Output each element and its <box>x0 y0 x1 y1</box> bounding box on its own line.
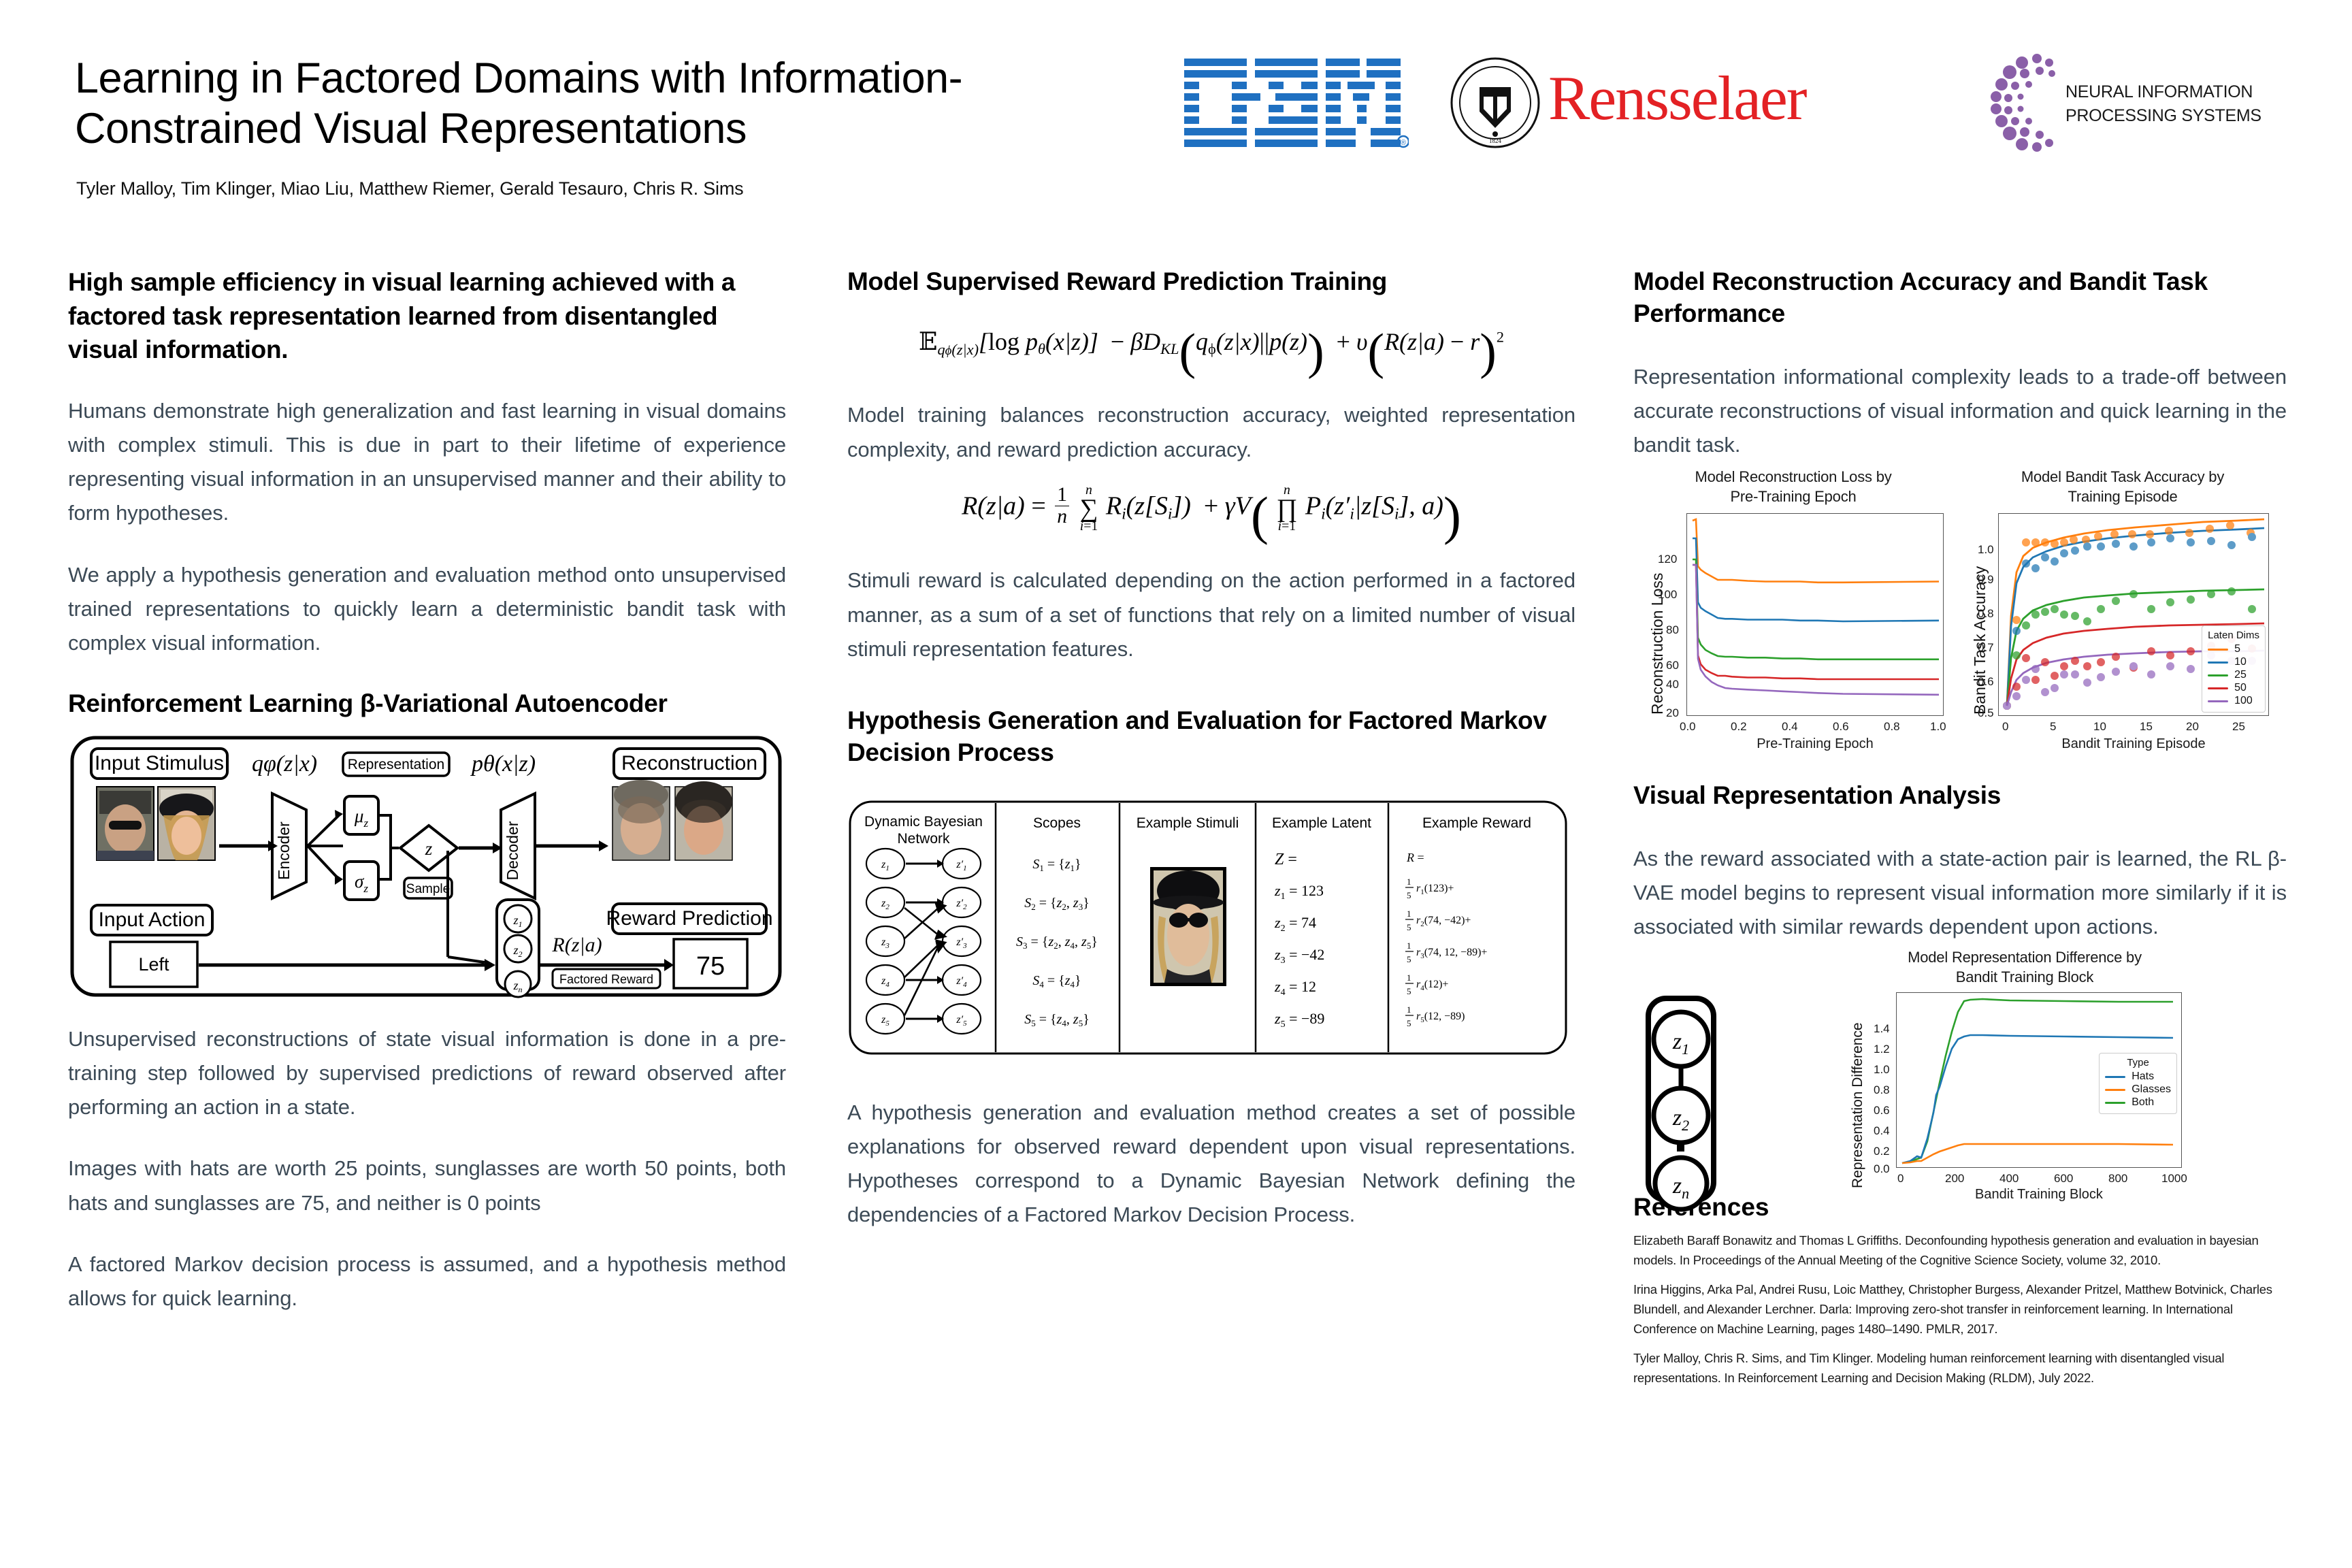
chart2-xtick-20: 20 <box>2186 720 2199 734</box>
left-lead-heading: High sample efficiency in visual learnin… <box>68 265 786 367</box>
poster-header: Learning in Factored Domains with Inform… <box>0 0 2352 225</box>
left-paragraph-4: Images with hats are worth 25 points, su… <box>68 1151 786 1220</box>
legend-swatch-100 <box>2208 700 2228 702</box>
legend-label-100: 100 <box>2234 695 2253 707</box>
mid-paragraph-1: Model training balances reconstruction a… <box>847 398 1575 466</box>
svg-text:5: 5 <box>1407 954 1411 964</box>
poster-root: Learning in Factored Domains with Inform… <box>0 0 2352 1568</box>
dbn-col-header-4: Example Reward <box>1422 815 1531 831</box>
ibm-logo: ® <box>1184 57 1409 148</box>
chart3-legend-title: Type <box>2105 1057 2171 1068</box>
chart-reconstruction-loss: Model Reconstruction Loss byPre-Training… <box>1633 468 1953 762</box>
chart-representation-difference: Model Representation Difference byBandit… <box>1763 948 2287 1222</box>
svg-text:1: 1 <box>1407 909 1411 919</box>
ibm-registered-mark: ® <box>1401 139 1406 147</box>
page-title: Learning in Factored Domains with Inform… <box>75 53 1164 154</box>
svg-text:5: 5 <box>1407 922 1411 932</box>
vae-encoder-label: Encoder <box>275 821 293 879</box>
legend-label-both: Both <box>2131 1096 2154 1109</box>
chart3-title: Model Representation Difference byBandit… <box>1763 948 2287 986</box>
chart3-legend: Type Hats Glasses Both <box>2099 1053 2177 1114</box>
chart1-ytick-20: 20 <box>1666 706 1679 720</box>
vae-reward-prediction-label: Reward Prediction <box>606 907 772 930</box>
right-heading-2: Visual Representation Analysis <box>1633 779 2287 811</box>
svg-text:1: 1 <box>1407 1004 1411 1015</box>
chart3-legend-item-hats: Hats <box>2105 1071 2171 1083</box>
chart2-xtick-25: 25 <box>2232 720 2245 734</box>
dbn-col-header-3: Example Latent <box>1272 815 1371 831</box>
svg-text:R =: R = <box>1406 851 1424 864</box>
svg-text:z2 = 74: z2 = 74 <box>1274 914 1316 934</box>
vae-action-value: Left <box>138 954 169 975</box>
chart1-xtick-06: 0.6 <box>1833 720 1849 734</box>
chart2-xtick-5: 5 <box>2050 720 2056 734</box>
chart3-ytick-04: 0.4 <box>1874 1124 1890 1138</box>
legend-swatch-hats <box>2105 1076 2125 1078</box>
chart2-ytick-06: 0.6 <box>1978 675 1994 689</box>
vae-representation-label: Representation <box>348 757 444 772</box>
chart2-legend-item-5: 5 <box>2208 643 2259 656</box>
right-paragraph-1: Representation informational complexity … <box>1633 360 2287 463</box>
equation-elbo: 𝔼qϕ(z|x)[log pθ(x|z)] − βDKL(qϕ(z|x)||p(… <box>847 327 1575 371</box>
logo-strip: ® 1824 Rensselaer <box>1177 41 2307 163</box>
right-paragraph-2: As the reward associated with a state-ac… <box>1633 842 2287 945</box>
left-column: High sample efficiency in visual learnin… <box>68 265 786 1316</box>
vae-input-stimulus-label: Input Stimulus <box>95 752 224 774</box>
chart3-ytick-10: 1.0 <box>1874 1063 1890 1077</box>
chart1-xtick-04: 0.4 <box>1782 720 1798 734</box>
legend-label-glasses: Glasses <box>2131 1083 2171 1096</box>
left-paragraph-1: Humans demonstrate high generalization a… <box>68 394 786 531</box>
author-list: Tyler Malloy, Tim Klinger, Miao Liu, Mat… <box>76 178 1199 199</box>
chart3-legend-item-both: Both <box>2105 1096 2171 1109</box>
legend-swatch-25 <box>2208 674 2228 676</box>
vae-reconstruction-image-2 <box>675 781 732 860</box>
left-paragraph-2: We apply a hypothesis generation and eva… <box>68 558 786 661</box>
vae-decoder-distribution-label: pθ(x|z) <box>470 751 536 777</box>
vae-reward-value: 75 <box>696 952 725 981</box>
vae-input-image-1 <box>97 787 154 860</box>
reference-item-3: Tyler Malloy, Chris R. Sims, and Tim Kli… <box>1633 1349 2287 1388</box>
chart3-ytick-08: 0.8 <box>1874 1083 1890 1097</box>
vae-reconstruction-label: Reconstruction <box>621 752 757 774</box>
reference-item-1: Elizabeth Baraff Bonawitz and Thomas L G… <box>1633 1231 2287 1271</box>
latent-node-stack: z1 z2 zn <box>1633 989 1735 1213</box>
left-paragraph-3: Unsupervised reconstructions of state vi… <box>68 1022 786 1125</box>
chart2-ytick-05: 0.5 <box>1978 706 1994 720</box>
svg-text:5: 5 <box>1407 1018 1411 1028</box>
svg-text:1: 1 <box>1407 973 1411 983</box>
chart3-xtick-400: 400 <box>1999 1172 2019 1186</box>
chart2-ytick-08: 0.8 <box>1978 607 1994 621</box>
chart1-ytick-60: 60 <box>1666 659 1679 672</box>
references-section: References Elizabeth Baraff Bonawitz and… <box>1633 1193 2287 1388</box>
neurips-wordmark: NEURAL INFORMATION PROCESSING SYSTEMS <box>2065 80 2261 127</box>
chart1-ytick-100: 100 <box>1658 588 1677 602</box>
vae-decoder-label: Decoder <box>504 821 521 880</box>
dbn-table: Dynamic BayesianNetwork Scopes Example S… <box>847 799 1569 1058</box>
chart1-ytick-40: 40 <box>1666 678 1679 691</box>
chart3-ytick-02: 0.2 <box>1874 1145 1890 1158</box>
mid-paragraph-3: A hypothesis generation and evaluation m… <box>847 1096 1575 1232</box>
chart2-ytick-07: 0.7 <box>1978 641 1994 655</box>
legend-label-5: 5 <box>2234 643 2240 655</box>
representation-analysis-row: z1 z2 zn Model Representation Difference… <box>1633 948 2287 1220</box>
legend-swatch-both <box>2105 1102 2125 1104</box>
chart3-ytick-00: 0.0 <box>1874 1162 1890 1176</box>
reference-item-2: Irina Higgins, Arka Pal, Andrei Rusu, Lo… <box>1633 1280 2287 1339</box>
rensselaer-wordmark: Rensselaer <box>1548 67 1806 129</box>
chart2-legend-item-100: 100 <box>2208 695 2259 708</box>
right-column: Model Reconstruction Accuracy and Bandit… <box>1633 265 2287 1397</box>
vae-factored-reward-label: Factored Reward <box>559 973 653 986</box>
chart1-xtick-10: 1.0 <box>1930 720 1946 734</box>
chart3-xtick-200: 200 <box>1945 1172 1964 1186</box>
svg-text:z4 = 12: z4 = 12 <box>1274 978 1316 998</box>
legend-swatch-5 <box>2208 649 2228 651</box>
dbn-col-header-2: Example Stimuli <box>1137 815 1239 831</box>
vae-reconstruction-image-1 <box>612 780 670 860</box>
chart1-xtick-08: 0.8 <box>1884 720 1900 734</box>
neurips-line-2: PROCESSING SYSTEMS <box>2065 104 2261 128</box>
chart2-xtick-10: 10 <box>2093 720 2106 734</box>
chart2-xlabel: Bandit Training Episode <box>1998 736 2269 752</box>
mid-heading-1: Model Supervised Reward Prediction Train… <box>847 265 1575 297</box>
charts-row: Model Reconstruction Loss byPre-Training… <box>1633 468 2287 767</box>
chart3-xtick-600: 600 <box>2054 1172 2073 1186</box>
svg-text:5: 5 <box>1407 986 1411 996</box>
chart1-ytick-80: 80 <box>1666 623 1679 637</box>
legend-label-hats: Hats <box>2131 1071 2154 1083</box>
left-paragraph-5: A factored Markov decision process is as… <box>68 1247 786 1316</box>
chart3-ytick-12: 1.2 <box>1874 1043 1890 1056</box>
dbn-example-stimuli-image <box>1150 867 1226 986</box>
vae-input-action-label: Input Action <box>99 909 206 931</box>
chart1-xtick-0: 0.0 <box>1680 720 1696 734</box>
neurips-logo: NEURAL INFORMATION PROCESSING SYSTEMS <box>1984 48 2304 157</box>
legend-label-50: 50 <box>2234 682 2247 694</box>
vae-reward-function-label: R(z|a) <box>551 934 602 956</box>
svg-text:5: 5 <box>1407 890 1411 900</box>
dbn-col-header-1: Scopes <box>1033 815 1081 831</box>
chart3-xtick-0: 0 <box>1897 1172 1904 1186</box>
chart2-title: Model Bandit Task Accuracy byTraining Ep… <box>1959 468 2287 506</box>
mid-paragraph-2: Stimuli reward is calculated depending o… <box>847 563 1575 666</box>
vae-sample-label: Sample <box>406 882 450 896</box>
chart2-ytick-09: 0.9 <box>1978 573 1994 587</box>
chart2-ytick-10: 1.0 <box>1978 543 1994 557</box>
chart1-title: Model Reconstruction Loss byPre-Training… <box>1633 468 1953 506</box>
rpi-seal-logo: 1824 <box>1450 57 1541 148</box>
chart3-ytick-14: 1.4 <box>1874 1022 1890 1036</box>
legend-swatch-50 <box>2208 687 2228 689</box>
chart3-legend-item-glasses: Glasses <box>2105 1083 2171 1096</box>
chart2-legend-item-10: 10 <box>2208 656 2259 669</box>
svg-text:1: 1 <box>1407 941 1411 951</box>
chart2-legend-item-50: 50 <box>2208 682 2259 695</box>
mid-heading-2: Hypothesis Generation and Evaluation for… <box>847 704 1575 769</box>
legend-swatch-glasses <box>2105 1089 2125 1091</box>
chart3-xtick-800: 800 <box>2108 1172 2127 1186</box>
rpi-seal-year: 1824 <box>1489 137 1502 144</box>
chart2-legend-item-25: 25 <box>2208 669 2259 682</box>
vae-encoder-distribution-label: qφ(z|x) <box>252 751 317 777</box>
chart2-legend: Laten Dims 5 10 25 <box>2202 625 2266 713</box>
vae-latent-z-label: z <box>425 838 433 859</box>
rl-bvae-diagram: Input Stimulus qφ(z|x) Representation pθ… <box>68 734 786 1006</box>
chart2-xtick-0: 0 <box>2002 720 2008 734</box>
chart2-xtick-15: 15 <box>2140 720 2153 734</box>
middle-column: Model Supervised Reward Prediction Train… <box>847 265 1575 1232</box>
svg-text:Z =: Z = <box>1275 851 1297 868</box>
chart2-legend-title: Laten Dims <box>2208 630 2259 641</box>
legend-label-10: 10 <box>2234 656 2247 668</box>
equation-factored-reward: R(z|a) = 1n n∑i=1 Ri(z[Si]) + γV( n∏i=1 … <box>847 483 1575 536</box>
vae-section-heading: Reinforcement Learning β-Variational Aut… <box>68 687 786 719</box>
chart3-ylabel: Representation Difference <box>1850 1022 1866 1188</box>
chart2-ylabel: Bandit Task Accuracy <box>1971 566 1989 715</box>
legend-swatch-10 <box>2208 661 2228 664</box>
chart3-xlabel: Bandit Training Block <box>1896 1187 2182 1203</box>
chart1-ytick-120: 120 <box>1658 553 1677 566</box>
right-heading-1: Model Reconstruction Accuracy and Bandit… <box>1633 265 2287 330</box>
chart-bandit-accuracy: Model Bandit Task Accuracy byTraining Ep… <box>1959 468 2287 762</box>
neurips-line-1: NEURAL INFORMATION <box>2065 80 2261 104</box>
legend-label-25: 25 <box>2234 669 2247 681</box>
chart1-xtick-02: 0.2 <box>1731 720 1747 734</box>
chart3-ytick-06: 0.6 <box>1874 1104 1890 1117</box>
svg-text:1: 1 <box>1407 877 1411 887</box>
chart1-xlabel: Pre-Training Epoch <box>1686 736 1944 752</box>
chart3-xtick-1000: 1000 <box>2161 1172 2187 1186</box>
vae-input-image-2 <box>158 787 215 860</box>
